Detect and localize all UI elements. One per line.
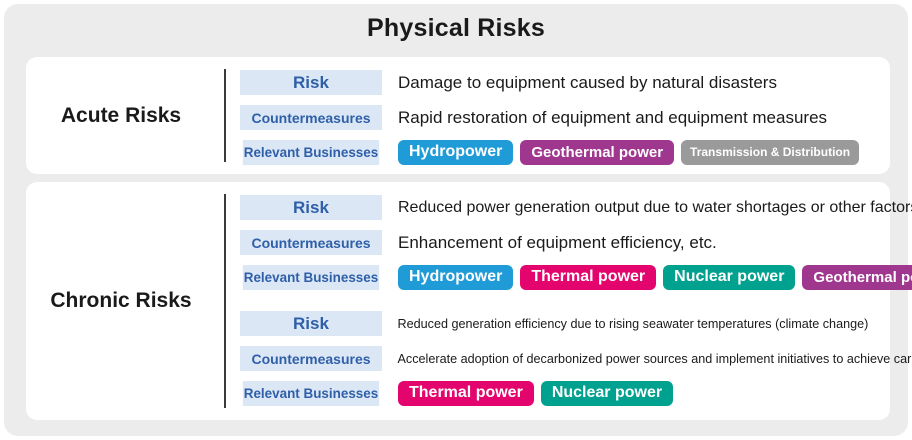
risk-group: Risk Reduced power generation output due… — [240, 193, 890, 291]
rows-chronic: Risk Reduced power generation output due… — [240, 182, 890, 431]
text-countermeasures: Rapid restoration of equipment and equip… — [382, 108, 890, 128]
label-relevant-businesses: Relevant Businesses — [243, 265, 379, 290]
badge-hydropower[interactable]: Hydropower — [398, 265, 513, 290]
risk-group: Risk Reduced generation efficiency due t… — [240, 309, 890, 407]
badge-transmission-distribution[interactable]: Transmission & Distribution — [681, 140, 859, 165]
vertical-divider — [224, 194, 226, 408]
badge-geothermal-power[interactable]: Geothermal power — [520, 140, 674, 165]
risk-group: Risk Damage to equipment caused by natur… — [240, 68, 890, 166]
physical-risks-diagram: Physical Risks Acute Risks Risk Damage t… — [0, 0, 912, 440]
text-risk: Reduced power generation output due to w… — [382, 199, 912, 217]
label-relevant-businesses: Relevant Businesses — [243, 140, 379, 165]
badge-list: Hydropower Geothermal power Transmission… — [382, 140, 890, 165]
row-relevant-businesses: Relevant Businesses Hydropower Thermal p… — [240, 263, 890, 291]
row-risk: Risk Damage to equipment caused by natur… — [240, 68, 890, 97]
row-countermeasures: Countermeasures Enhancement of equipment… — [240, 228, 890, 257]
row-countermeasures: Countermeasures Accelerate adoption of d… — [240, 344, 890, 373]
text-countermeasures: Accelerate adoption of decarbonized powe… — [382, 351, 912, 366]
label-risk: Risk — [240, 195, 382, 220]
category-name-acute: Acute Risks — [26, 57, 216, 174]
text-risk: Damage to equipment caused by natural di… — [382, 73, 890, 93]
vertical-divider — [224, 69, 226, 162]
badge-thermal-power[interactable]: Thermal power — [398, 381, 534, 406]
category-name-chronic: Chronic Risks — [26, 182, 216, 420]
text-risk: Reduced generation efficiency due to ris… — [382, 316, 875, 331]
badge-nuclear-power[interactable]: Nuclear power — [541, 381, 673, 406]
badge-list: Thermal power Nuclear power — [382, 381, 890, 406]
panel-chronic-risks: Chronic Risks Risk Reduced power generat… — [26, 182, 890, 420]
rows-acute: Risk Damage to equipment caused by natur… — [240, 57, 890, 185]
panel-acute-risks: Acute Risks Risk Damage to equipment cau… — [26, 57, 890, 174]
badge-hydropower[interactable]: Hydropower — [398, 140, 513, 165]
badge-thermal-power[interactable]: Thermal power — [520, 265, 656, 290]
row-relevant-businesses: Relevant Businesses Hydropower Geotherma… — [240, 138, 890, 166]
row-relevant-businesses: Relevant Businesses Thermal power Nuclea… — [240, 379, 890, 407]
group-spacer — [240, 297, 890, 309]
text-countermeasures: Enhancement of equipment efficiency, etc… — [382, 233, 890, 253]
label-risk: Risk — [240, 70, 382, 95]
label-countermeasures: Countermeasures — [240, 230, 382, 255]
row-countermeasures: Countermeasures Rapid restoration of equ… — [240, 103, 890, 132]
label-risk: Risk — [240, 311, 382, 336]
label-countermeasures: Countermeasures — [240, 105, 382, 130]
outer-frame: Physical Risks Acute Risks Risk Damage t… — [4, 4, 908, 436]
label-relevant-businesses: Relevant Businesses — [243, 381, 379, 406]
badge-list: Hydropower Thermal power Nuclear power G… — [382, 265, 912, 290]
badge-geothermal-power[interactable]: Geothermal power — [802, 265, 912, 290]
row-risk: Risk Reduced power generation output due… — [240, 193, 890, 222]
label-countermeasures: Countermeasures — [240, 346, 382, 371]
row-risk: Risk Reduced generation efficiency due t… — [240, 309, 890, 338]
badge-nuclear-power[interactable]: Nuclear power — [663, 265, 795, 290]
page-title: Physical Risks — [4, 14, 908, 43]
